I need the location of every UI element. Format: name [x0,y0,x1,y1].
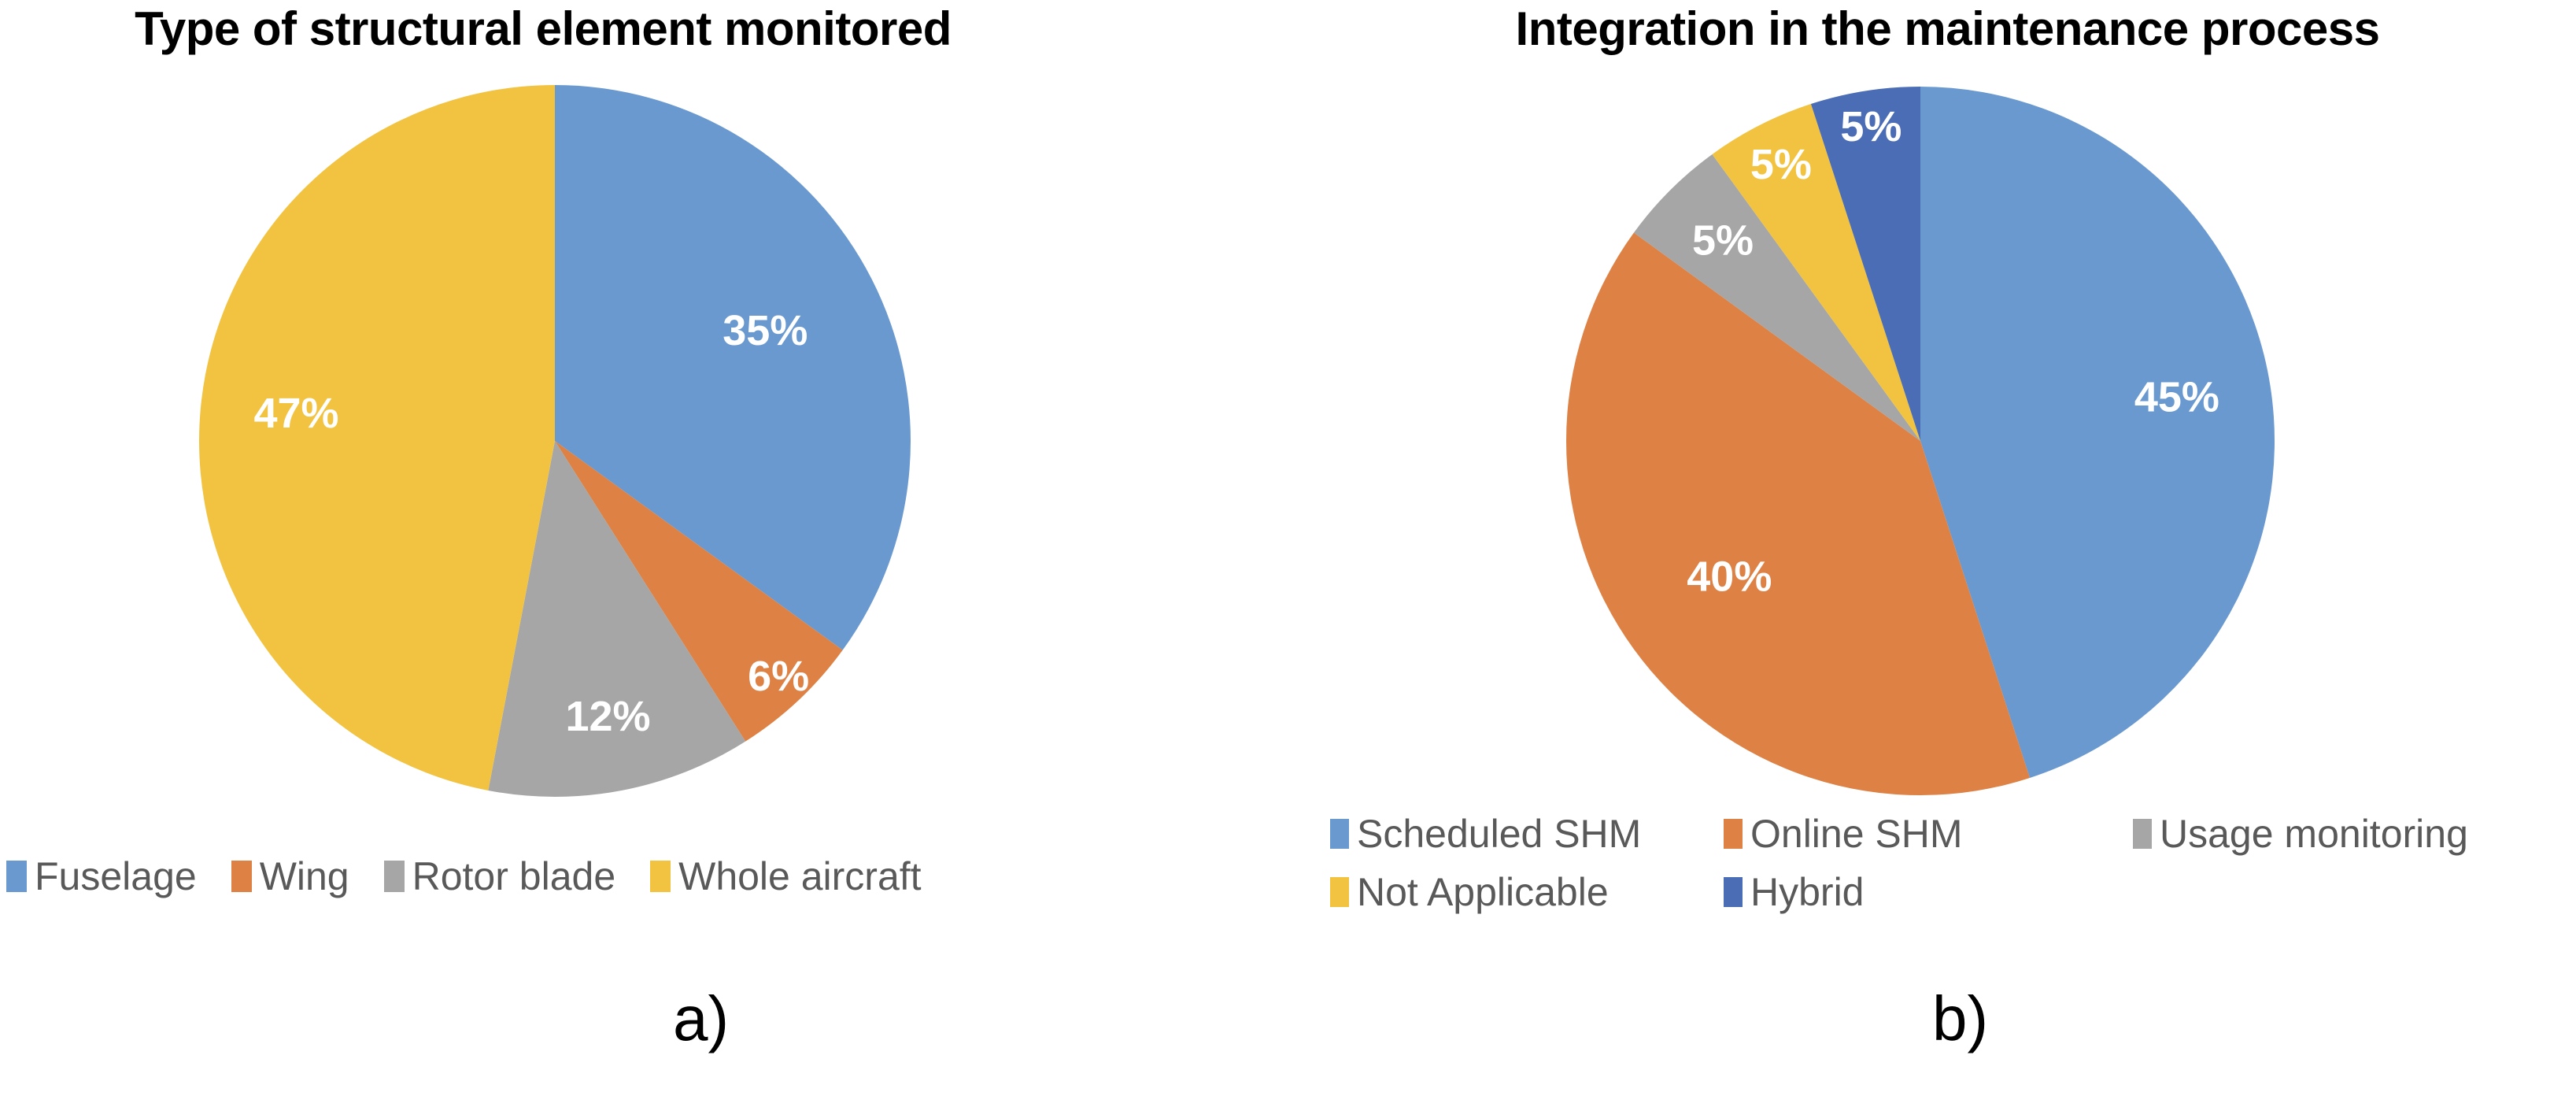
pie-svg-a: 35%6%12%47% [0,0,1259,835]
legend-item-wing[interactable]: Wing [231,857,349,896]
pie-slice [199,85,555,791]
legend-label: Fuselage [27,857,197,896]
pie-slice-value-label: 47% [253,390,338,437]
panel-caption-b: b) [1932,983,1988,1055]
pie-slices-b [1566,87,2275,795]
legend-label: Online SHM [1743,814,1963,853]
legend-label: Usage monitoring [2152,814,2468,853]
pie-slice-value-label: 45% [2134,374,2219,421]
legend-item-usage-monitoring[interactable]: Usage monitoring [2133,805,2574,863]
pie-chart-a: 35%6%12%47% [0,0,1259,839]
legend-swatch-icon [1724,819,1743,849]
legend-item-whole-aircraft[interactable]: Whole aircraft [650,857,921,896]
legend-swatch-icon [1724,877,1743,907]
legend-swatch-icon [6,861,27,892]
legend-swatch-icon [231,861,252,892]
panel-a: Type of structural element monitored 35%… [0,0,1259,1096]
legend-label: Wing [252,857,349,896]
legend-label: Not Applicable [1349,872,1609,912]
pie-chart-b: 45%40%5%5%5% [1291,0,2576,839]
legend-item-hybrid[interactable]: Hybrid [1724,863,2133,921]
legend-a: FuselageWingRotor bladeWhole aircraft [6,857,1187,896]
panel-b: Integration in the maintenance process 4… [1291,0,2576,1096]
legend-label: Hybrid [1743,872,1864,912]
legend-item-online-shm[interactable]: Online SHM [1724,805,2133,863]
legend-label: Rotor blade [405,857,616,896]
pie-slice-value-label: 12% [565,693,650,740]
legend-swatch-icon [384,861,405,892]
pie-svg-b: 45%40%5%5%5% [1291,0,2576,835]
legend-swatch-icon [650,861,671,892]
legend-swatch-icon [1330,819,1349,849]
pie-slice-value-label: 40% [1687,554,1772,601]
legend-item-scheduled-shm[interactable]: Scheduled SHM [1330,805,1724,863]
pie-slice-value-label: 5% [1750,141,1812,188]
pie-slice-value-label: 6% [748,653,809,700]
legend-swatch-icon [1330,877,1349,907]
legend-swatch-icon [2133,819,2152,849]
pie-slice-value-label: 35% [723,307,808,354]
pie-slice-value-label: 5% [1840,103,1902,150]
legend-item-fuselage[interactable]: Fuselage [6,857,197,896]
pie-slice-value-label: 5% [1692,217,1754,264]
legend-item-not-applicable[interactable]: Not Applicable [1330,863,1724,921]
panel-caption-a: a) [673,983,729,1055]
legend-label: Scheduled SHM [1349,814,1641,853]
legend-item-rotor-blade[interactable]: Rotor blade [384,857,616,896]
legend-b: Scheduled SHMOnline SHMUsage monitoringN… [1330,805,2576,921]
legend-label: Whole aircraft [671,857,921,896]
